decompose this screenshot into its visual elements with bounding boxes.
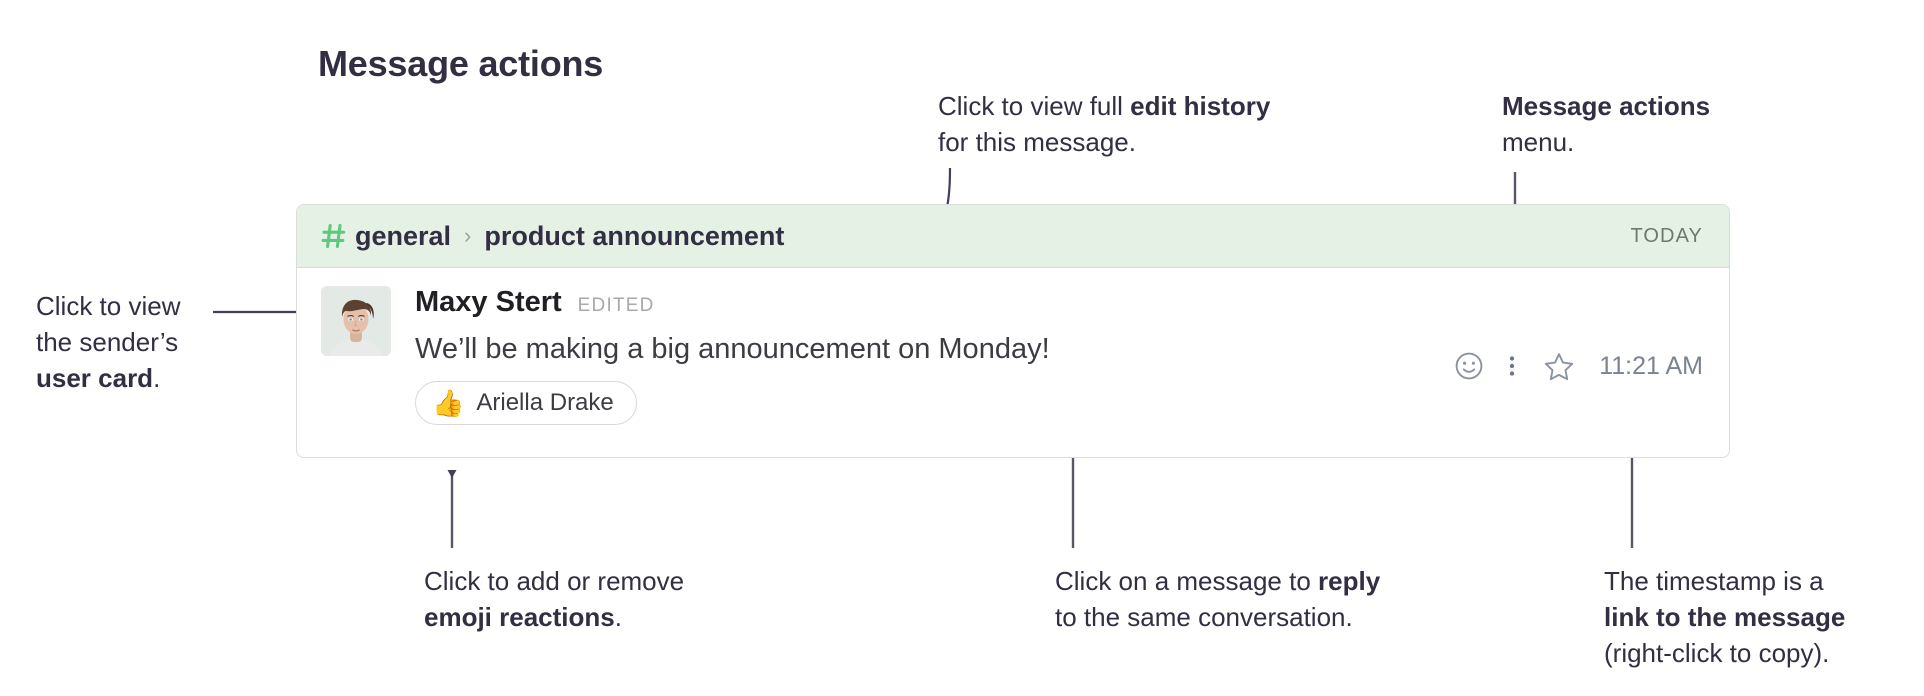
annotation-timestamp-line1: The timestamp is a bbox=[1604, 563, 1845, 599]
annotation-actions-menu-emphasis: Message actions bbox=[1502, 91, 1710, 121]
thumbs-up-emoji: 👍 bbox=[432, 390, 464, 416]
annotation-timestamp: The timestamp is a link to the message (… bbox=[1604, 563, 1845, 671]
annotation-edit-history-line2: for this message. bbox=[938, 124, 1270, 160]
message-timestamp[interactable]: 11:21 AM bbox=[1599, 352, 1703, 381]
header-date-label: TODAY bbox=[1630, 225, 1703, 248]
breadcrumb-topic[interactable]: product announcement bbox=[484, 221, 784, 252]
annotation-timestamp-emphasis: link to the message bbox=[1604, 602, 1845, 632]
annotation-edit-history-emphasis: edit history bbox=[1130, 91, 1270, 121]
avatar[interactable] bbox=[321, 286, 391, 356]
annotation-reply-line1-pre: Click on a message to bbox=[1055, 566, 1318, 596]
annotation-actions-menu: Message actions menu. bbox=[1502, 88, 1710, 160]
annotation-user-card: Click to view the sender’s user card. bbox=[36, 288, 180, 396]
reaction-users: Ariella Drake bbox=[476, 389, 613, 417]
message-card: general › product announcement TODAY bbox=[296, 204, 1730, 458]
annotation-edit-history: Click to view full edit history for this… bbox=[938, 88, 1270, 160]
annotation-user-card-line3-post: . bbox=[153, 363, 160, 393]
message-actions-cluster: 11:21 AM bbox=[1453, 349, 1703, 383]
annotation-user-card-line1: Click to view bbox=[36, 288, 180, 324]
add-reaction-icon[interactable] bbox=[1453, 350, 1485, 382]
annotation-reply-emphasis: reply bbox=[1318, 566, 1380, 596]
annotation-user-card-line2: the sender’s bbox=[36, 324, 180, 360]
annotation-reply: Click on a message to reply to the same … bbox=[1055, 563, 1380, 635]
annotation-user-card-emphasis: user card bbox=[36, 363, 153, 393]
annotation-emoji-reactions: Click to add or remove emoji reactions. bbox=[424, 563, 684, 635]
sender-line: Maxy Stert EDITED bbox=[415, 286, 1703, 320]
reaction-pill[interactable]: 👍 Ariella Drake bbox=[415, 381, 637, 425]
annotation-emoji-emphasis: emoji reactions bbox=[424, 602, 615, 632]
annotation-emoji-line2-post: . bbox=[615, 602, 622, 632]
breadcrumb-channel[interactable]: general bbox=[355, 221, 451, 252]
message-row[interactable]: Maxy Stert EDITED We’ll be making a big … bbox=[297, 268, 1729, 457]
annotation-actions-menu-line2: menu. bbox=[1502, 124, 1710, 160]
annotation-reply-line2: to the same conversation. bbox=[1055, 599, 1380, 635]
page-title: Message actions bbox=[318, 43, 603, 85]
star-icon[interactable] bbox=[1543, 350, 1575, 382]
message-actions-menu-icon[interactable] bbox=[1507, 350, 1517, 382]
annotation-emoji-line1: Click to add or remove bbox=[424, 563, 684, 599]
annotation-edit-history-line1-pre: Click to view full bbox=[938, 91, 1130, 121]
chevron-right-icon: › bbox=[464, 225, 471, 247]
annotation-timestamp-line3: (right-click to copy). bbox=[1604, 635, 1845, 671]
sender-name[interactable]: Maxy Stert bbox=[415, 286, 562, 319]
channel-header: general › product announcement TODAY bbox=[297, 205, 1729, 268]
hash-icon bbox=[321, 223, 347, 249]
edited-badge[interactable]: EDITED bbox=[578, 295, 655, 317]
